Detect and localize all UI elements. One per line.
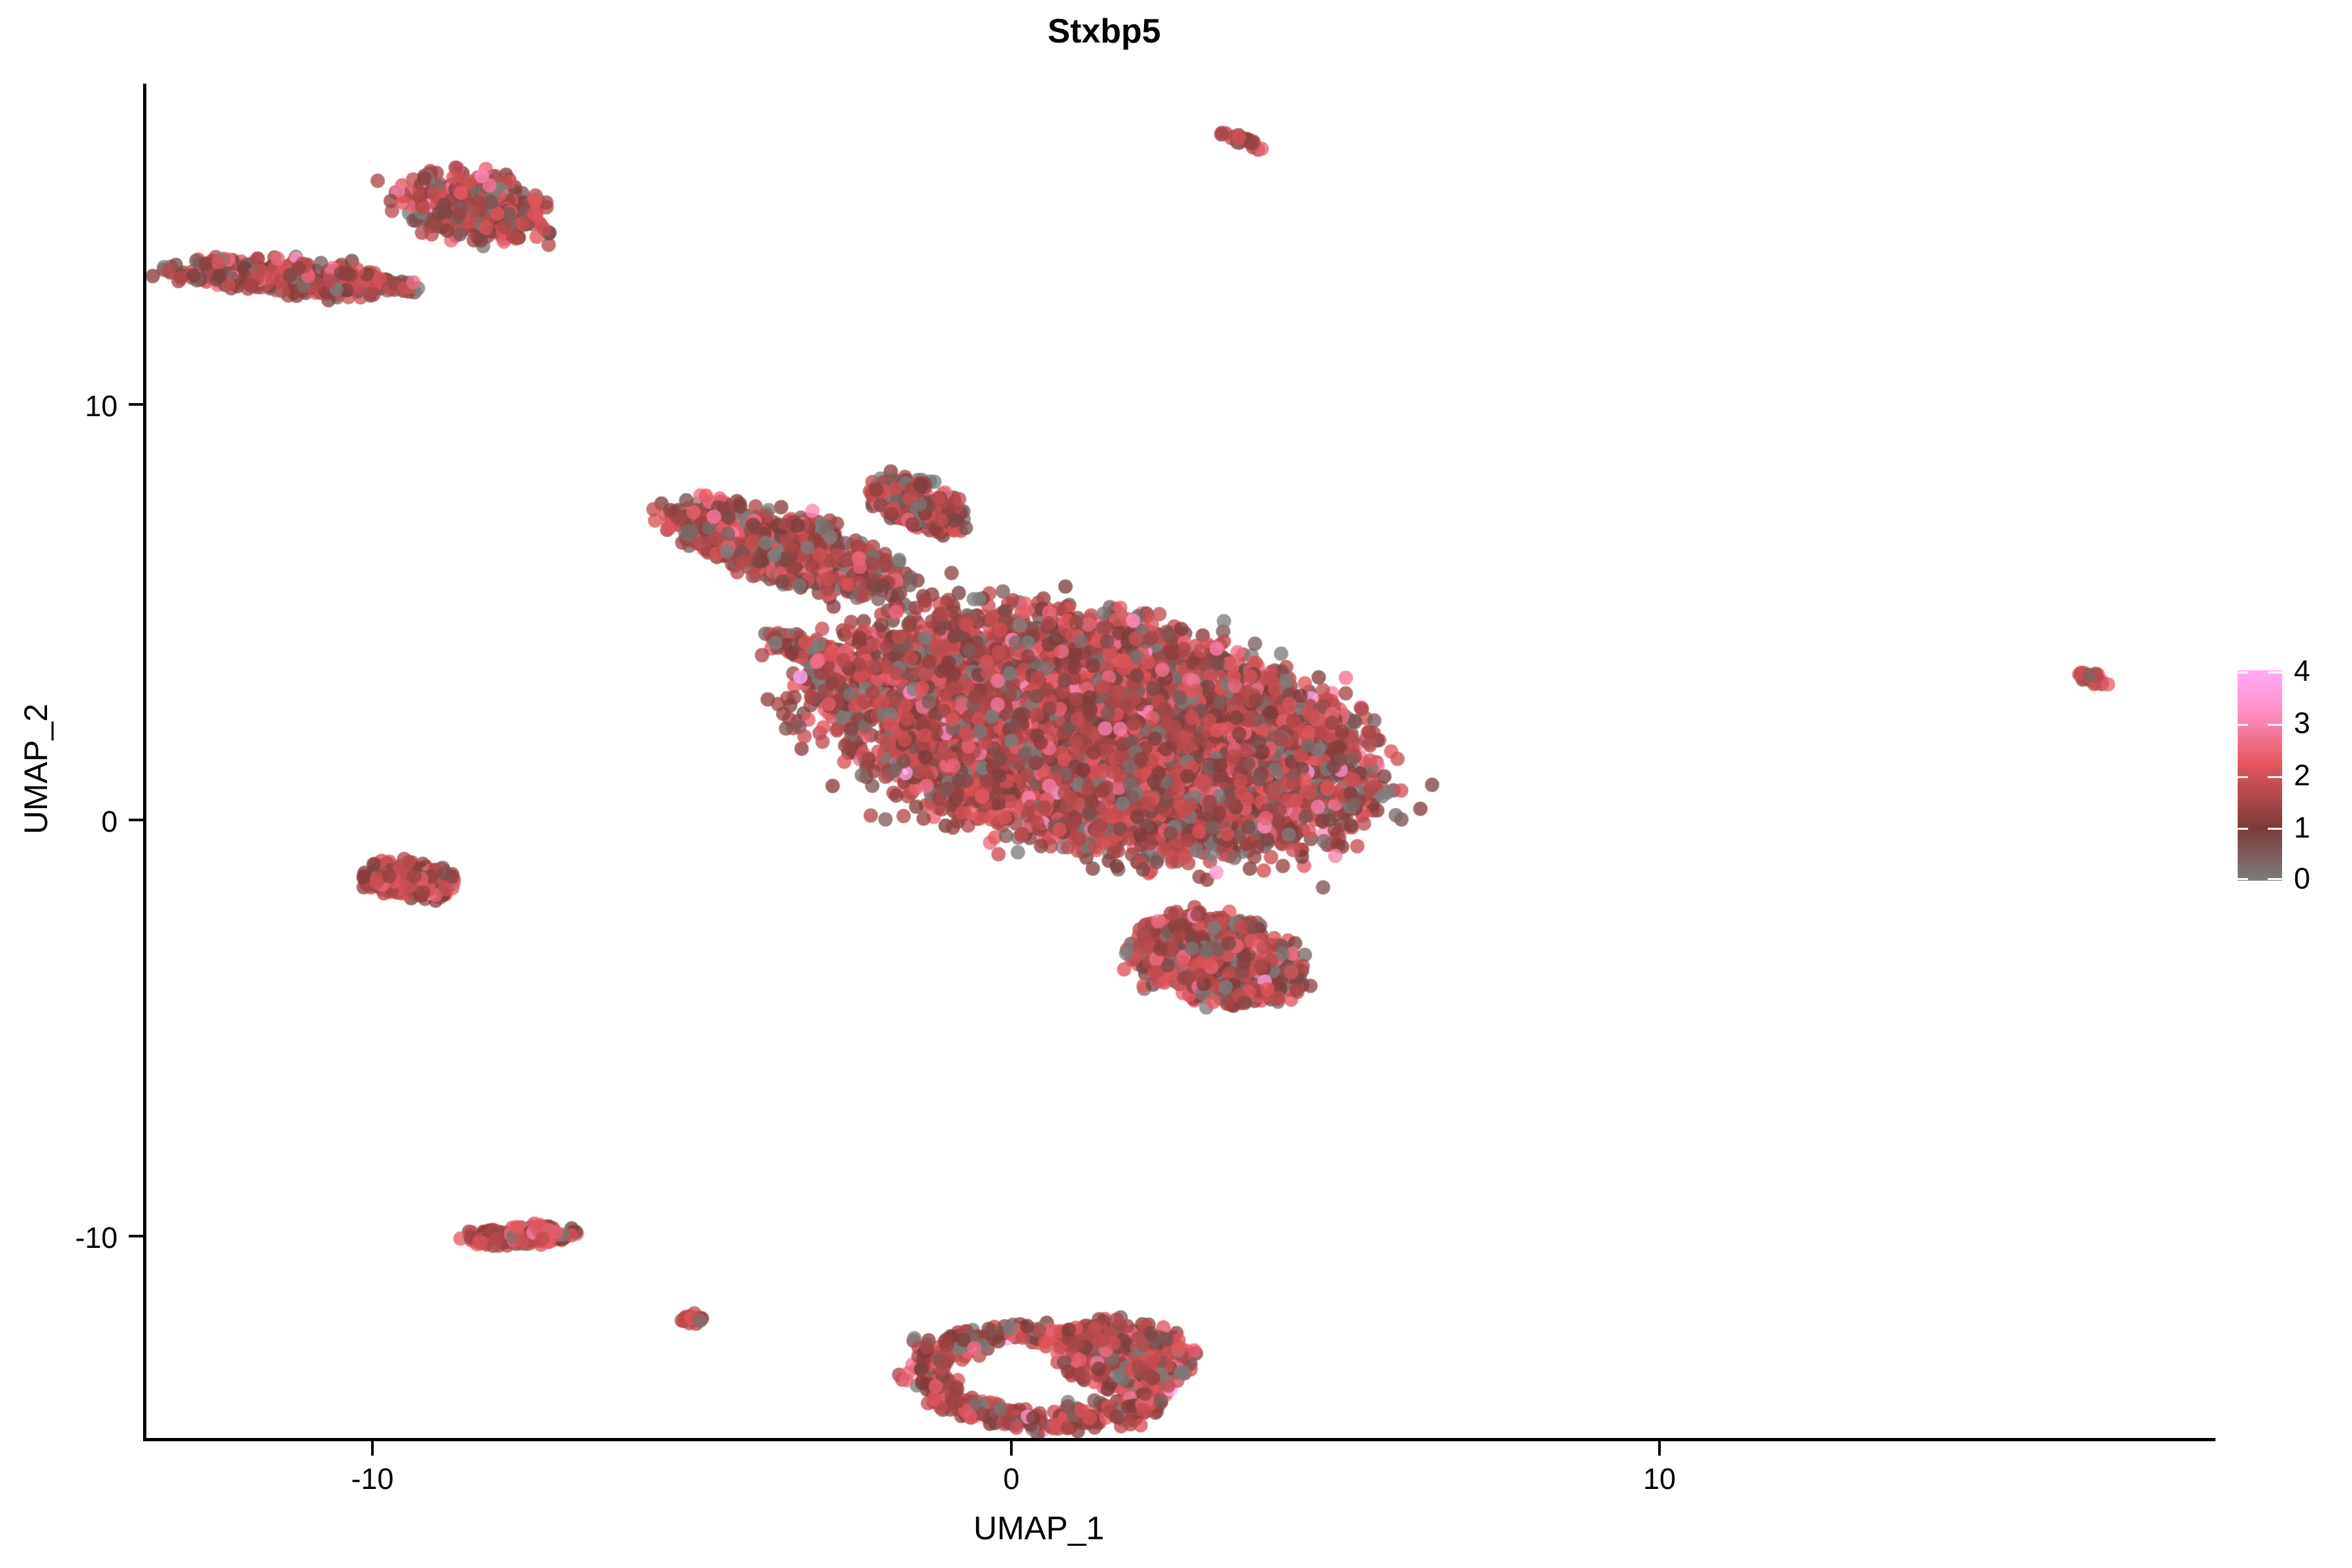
y-tick-label-10: 10 <box>13 389 118 423</box>
x-tick-label-10: 10 <box>1594 1462 1725 1496</box>
x-axis-title: UMAP_1 <box>973 1509 1104 1547</box>
colorbar-tick-0 <box>2268 878 2282 880</box>
colorbar-tick-left-2 <box>2238 776 2248 778</box>
plot-root: Stxbp5 10 0 -10 -10 0 10 UMAP_1 UMAP_2 4… <box>0 0 2352 1568</box>
colorbar-label-3: 3 <box>2294 708 2310 738</box>
plot-panel <box>145 84 2215 1440</box>
x-tick-label-neg10: -10 <box>307 1462 438 1496</box>
colorbar-tick-left-0 <box>2238 878 2248 880</box>
y-axis-title: UMAP_2 <box>17 638 55 900</box>
colorbar-tick-3 <box>2268 724 2282 726</box>
colorbar-tick-1 <box>2268 828 2282 830</box>
y-tick-label-neg10: -10 <box>13 1221 118 1255</box>
x-tick-label-0: 0 <box>946 1462 1077 1496</box>
colorbar-label-2: 2 <box>2294 760 2310 790</box>
scatter-plot-canvas <box>145 84 2215 1440</box>
colorbar-tick-2 <box>2268 776 2282 778</box>
colorbar-legend: 4 3 2 1 0 <box>2238 670 2342 882</box>
x-tick-mark-10 <box>1658 1441 1661 1456</box>
colorbar-label-4: 4 <box>2294 656 2310 685</box>
colorbar-tick-left-1 <box>2238 828 2248 830</box>
y-axis-line <box>143 84 146 1441</box>
x-tick-mark-0 <box>1010 1441 1013 1456</box>
y-tick-mark-0 <box>129 819 143 821</box>
y-tick-mark-neg10 <box>129 1235 143 1237</box>
colorbar-gradient <box>2238 670 2282 881</box>
y-tick-mark-10 <box>129 403 143 406</box>
x-axis-line <box>143 1438 2215 1441</box>
x-tick-mark-neg10 <box>371 1441 374 1456</box>
colorbar-tick-left-3 <box>2238 724 2248 726</box>
page-title: Stxbp5 <box>0 12 2208 51</box>
colorbar-tick-4 <box>2268 672 2282 674</box>
colorbar-label-0: 0 <box>2294 864 2310 893</box>
colorbar-tick-left-4 <box>2238 672 2248 674</box>
colorbar-label-1: 1 <box>2294 813 2310 842</box>
